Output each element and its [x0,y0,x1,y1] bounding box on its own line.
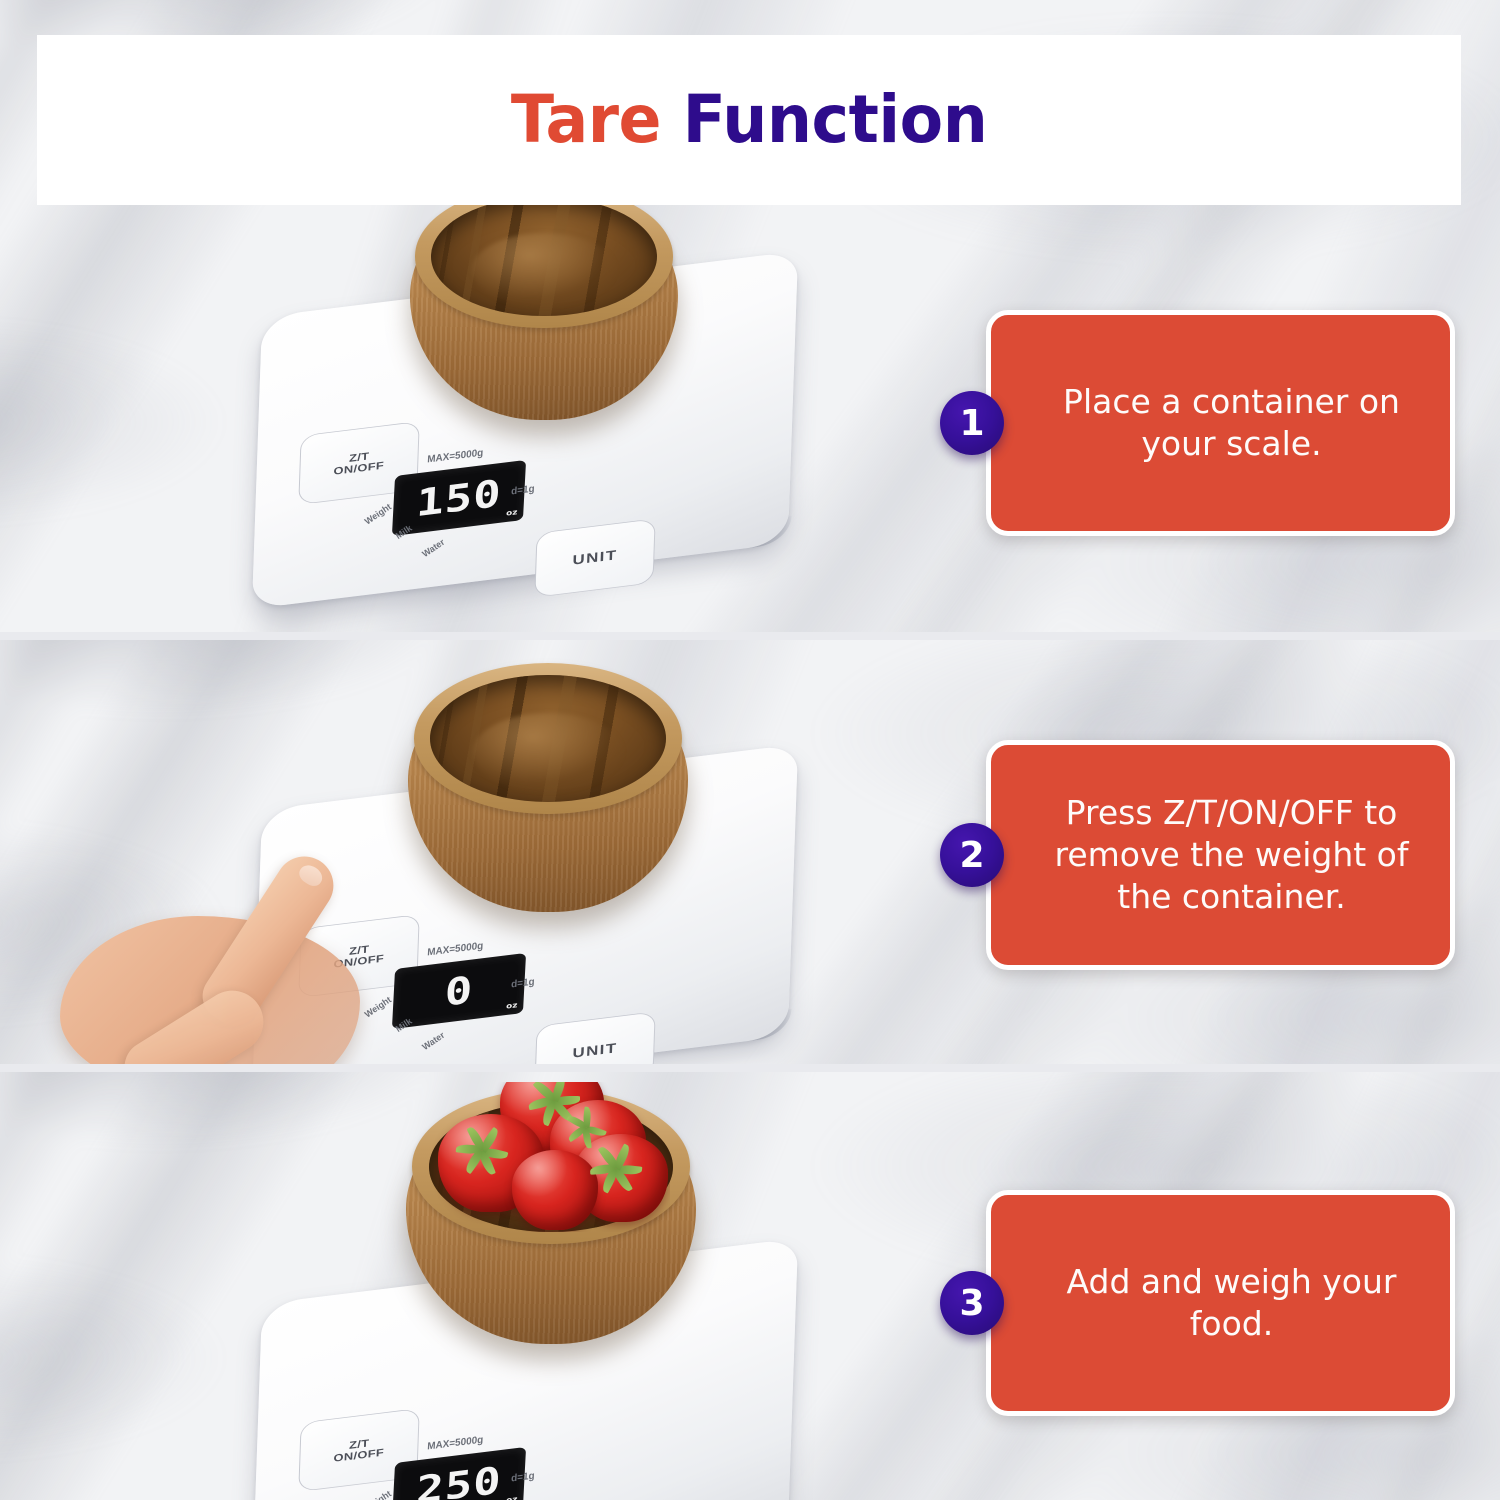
fingernail [296,861,326,889]
infographic-stage: Z/T ON/OFF UNIT 150 oz MAX=5000g d=1g We… [0,0,1500,1500]
step-panel-2: Z/T ON/OFF UNIT 0 oz MAX=5000g d=1g Weig… [0,640,1500,1064]
bowl-interior [430,675,665,802]
strawberry-leaf-icon [456,1126,508,1166]
step-badge-3: 3 [940,1271,1004,1335]
title-word-function: Function [682,81,987,158]
tare-label-line2: ON/OFF [333,459,384,477]
lcd-value: 250 [415,1461,502,1500]
callout-text-1: Place a container on your scale. [1047,381,1416,465]
page-title: Tare Function [511,87,987,153]
lcd-unit: oz [506,1002,518,1012]
callout-box-2: Press Z/T/ON/OFF to remove the weight of… [986,740,1455,970]
strawberry-leaf-icon [590,1144,642,1184]
title-banner: Tare Function [37,35,1461,205]
title-word-tare: Tare [511,81,661,158]
lcd-unit: oz [506,509,518,519]
step-panel-3: Z/T ON/OFF UNIT 250 oz MAX=5000g d=1g We… [0,1072,1500,1500]
step-badge-1: 1 [940,391,1004,455]
unit-label: UNIT [572,1041,617,1061]
callout-step-1: 1 Place a container on your scale. [940,310,1455,536]
callout-box-1: Place a container on your scale. [986,310,1455,536]
step-number-1: 1 [959,403,984,444]
tare-label-line2: ON/OFF [333,1446,384,1464]
callout-text-2: Press Z/T/ON/OFF to remove the weight of… [1047,792,1416,919]
unit-label: UNIT [572,548,617,568]
strawberry [512,1150,598,1230]
unit-button[interactable]: UNIT [534,518,655,597]
wooden-bowl-2 [408,668,688,912]
bowl-interior [431,197,656,317]
callout-box-3: Add and weigh your food. [986,1190,1455,1416]
step-number-3: 3 [959,1283,984,1324]
strawberry-leaf-icon [565,1108,607,1140]
callout-text-3: Add and weigh your food. [1047,1261,1416,1345]
callout-step-3: 3 Add and weigh your food. [940,1190,1455,1416]
lcd-unit: oz [506,1496,518,1500]
lcd-value: 150 [415,474,502,522]
step-badge-2: 2 [940,823,1004,887]
strawberry-cluster [432,1082,670,1232]
wooden-bowl-3 [406,1094,696,1344]
hand-pressing-button [120,850,450,1064]
callout-step-2: 2 Press Z/T/ON/OFF to remove the weight … [940,740,1455,970]
step-number-2: 2 [959,835,984,876]
wooden-bowl-1 [410,190,678,420]
